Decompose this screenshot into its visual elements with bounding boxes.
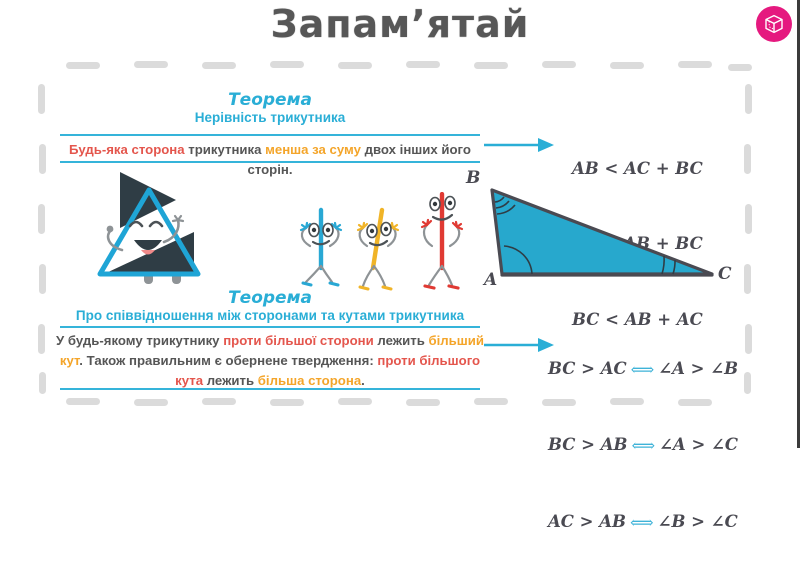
- theorem-2-line3-c: .: [361, 373, 365, 388]
- page-title: Запам’ятай: [0, 2, 800, 46]
- cube-glyph: [762, 12, 786, 36]
- theorem-2-line1-e: .: [79, 353, 83, 368]
- theorem-1-header: Теорема Нерівність трикутника: [60, 90, 480, 126]
- triangle-vertex-c-label: C: [718, 264, 732, 284]
- short-segment-character: [296, 196, 352, 295]
- triangle-diagram: B A C: [468, 176, 758, 294]
- formula-left: AC > AB: [548, 512, 626, 531]
- formula-right: ∠B > ∠C: [658, 512, 738, 531]
- cube-logo-icon[interactable]: [756, 6, 792, 42]
- formula-row: BC > AC⟺∠A > ∠B: [548, 356, 738, 382]
- formula-row: BC > AB⟺∠A > ∠C: [548, 432, 738, 458]
- iff-icon: ⟺: [631, 357, 655, 382]
- iff-icon: ⟺: [631, 433, 655, 458]
- formula-right: ∠A > ∠B: [658, 359, 738, 378]
- theorem-1-statement-part1: Будь-яка сторона: [69, 142, 185, 157]
- happy-triangle-mascot: [78, 166, 264, 291]
- long-segment-character: [412, 192, 470, 297]
- theorem-2-line1-a: У будь-якому трикутнику: [56, 333, 223, 348]
- formula-left: BC > AB: [548, 435, 627, 454]
- theorem-2-divider-bottom: [60, 388, 480, 390]
- theorem-2-header: Теорема Про співвідношення між сторонами…: [60, 288, 480, 324]
- formula-row: AC > AB⟺∠B > ∠C: [548, 509, 738, 535]
- theorem-1-word: Теорема: [60, 90, 480, 110]
- theorem-2-word: Теорема: [60, 288, 480, 308]
- theorem-1-statement-part3: менша за суму: [265, 142, 361, 157]
- formula-left: BC > AC: [548, 359, 627, 378]
- right-arrow-icon: [482, 336, 556, 359]
- theorem-1-divider-bottom: [60, 161, 480, 163]
- theorem-1-divider: [60, 134, 480, 136]
- theorem-2-line2-a: Також правильним є обернене твердження:: [87, 353, 378, 368]
- medium-segment-character: [352, 200, 408, 297]
- theorem-2-formulas: BC > AC⟺∠A > ∠B BC > AB⟺∠A > ∠C AC > AB⟺…: [548, 306, 738, 585]
- iff-icon: ⟺: [630, 510, 654, 535]
- theorem-2-divider: [60, 326, 480, 328]
- theorem-1-statement-part2: трикутника: [185, 142, 266, 157]
- slide-root: Запам’ятай: [0, 0, 800, 448]
- theorem-2-line1-c: лежить: [374, 333, 429, 348]
- formula-right: ∠A > ∠C: [659, 435, 738, 454]
- theorem-2-line3-a: лежить: [207, 373, 258, 388]
- right-arrow-icon: [482, 136, 556, 159]
- theorem-1-subtitle: Нерівність трикутника: [60, 110, 480, 126]
- theorem-2-statement: У будь-якому трикутнику проти більшої ст…: [56, 331, 484, 390]
- triangle-vertex-a-label: A: [484, 270, 497, 290]
- theorem-2-line3-b: більша сторона: [258, 373, 361, 388]
- theorem-2-subtitle: Про співвідношення між сторонами та кута…: [60, 308, 480, 324]
- triangle-vertex-b-label: B: [466, 168, 480, 188]
- theorem-2-line1-b: проти більшої сторони: [223, 333, 374, 348]
